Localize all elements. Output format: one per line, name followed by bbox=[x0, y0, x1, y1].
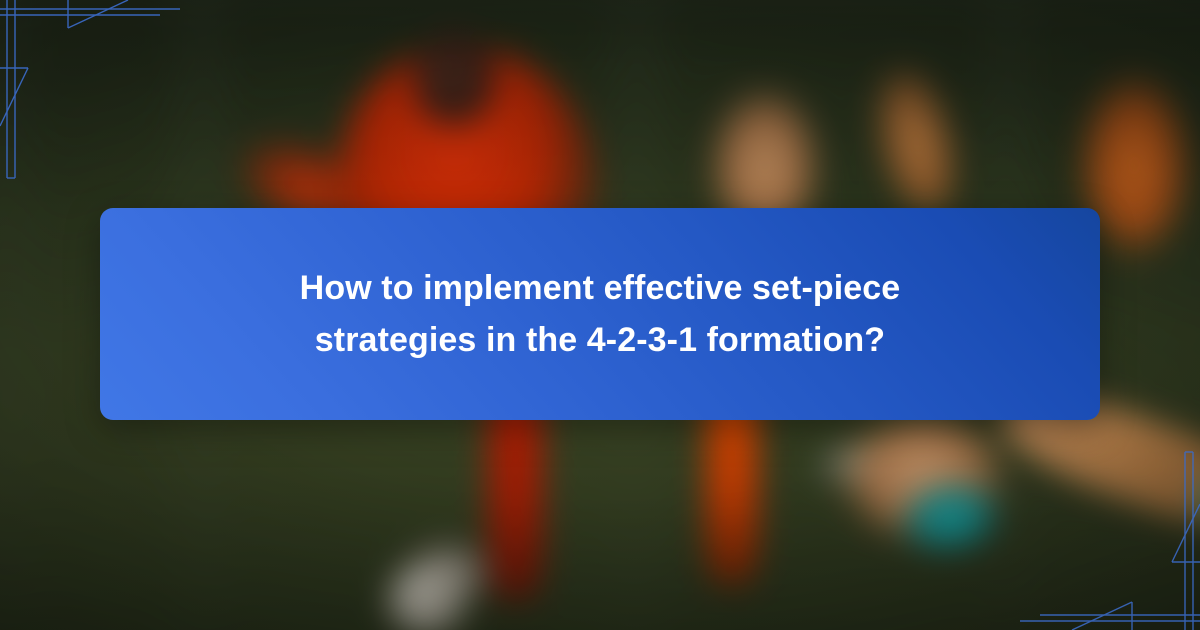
title-card: How to implement effective set-piece str… bbox=[100, 208, 1100, 420]
page-title: How to implement effective set-piece str… bbox=[270, 262, 930, 367]
player-red-head-blur bbox=[415, 30, 494, 128]
banner-stage: How to implement effective set-piece str… bbox=[0, 0, 1200, 630]
